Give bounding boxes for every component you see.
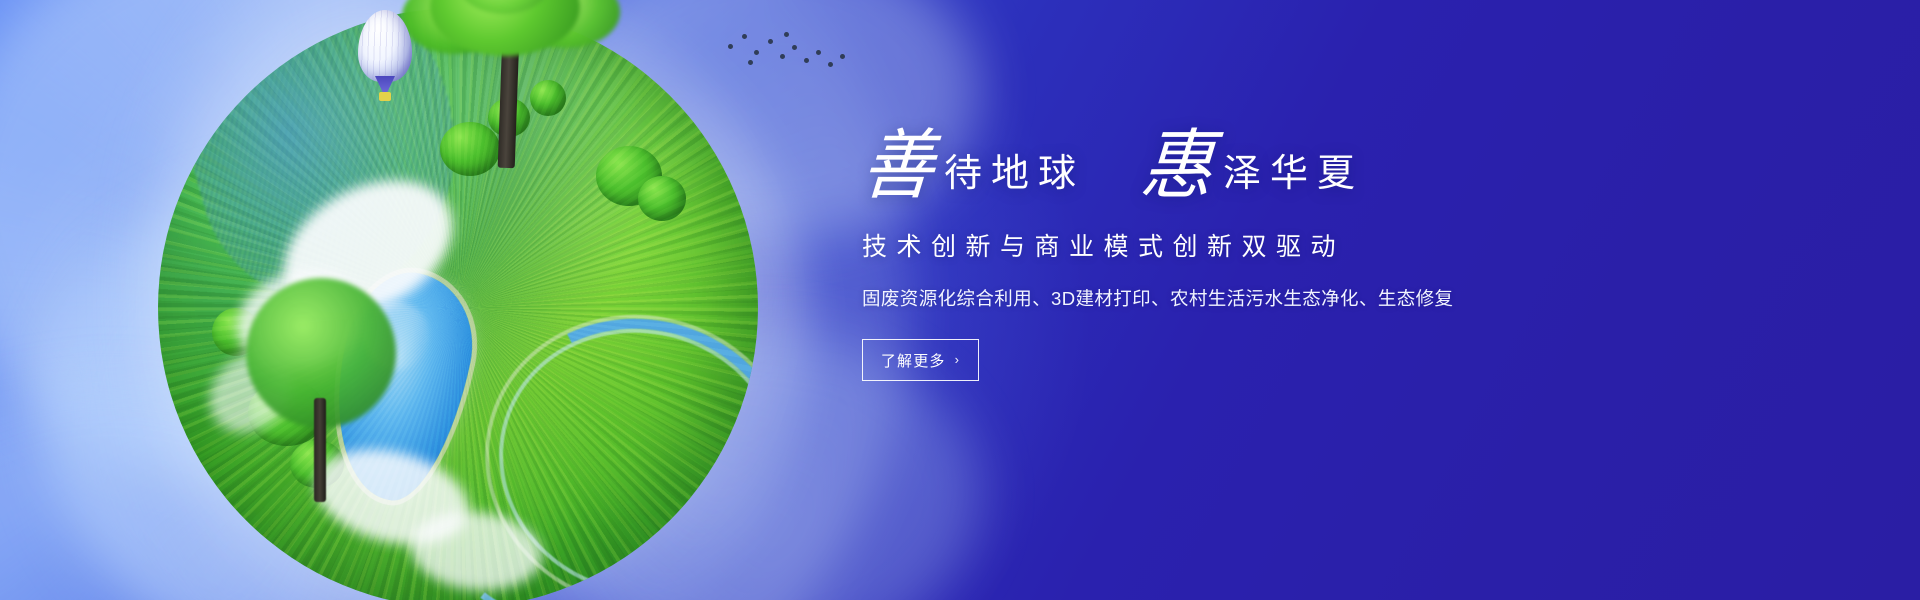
birds-flock [724,24,854,72]
headline-accent-char: 善 [859,130,936,203]
foreground-tree [246,278,396,508]
hero-copy: 善 待地球 惠 泽华夏 技术创新与商业模式创新双驱动 固废资源化综合利用、3D建… [862,132,1662,381]
subtitle: 技术创新与商业模式创新双驱动 [862,227,1662,263]
bird-icon [804,58,809,63]
bird-icon [742,34,747,39]
bird-icon [784,32,789,37]
bird-icon [792,45,797,50]
tiny-planet-artwork [128,0,788,600]
bird-icon [768,39,773,44]
headline-phrase-2: 惠 泽华夏 [1141,132,1364,201]
chevron-right-icon: › [955,352,961,367]
description: 固废资源化综合利用、3D建材打印、农村生活污水生态净化、生态修复 [862,285,1662,311]
hero-tree [396,0,626,167]
learn-more-label: 了解更多 [881,350,946,371]
hero-banner: 善 待地球 惠 泽华夏 技术创新与商业模式创新双驱动 固废资源化综合利用、3D建… [0,0,1920,600]
bird-icon [816,50,821,55]
learn-more-button[interactable]: 了解更多 › [862,339,979,381]
headline: 善 待地球 惠 泽华夏 [862,132,1662,201]
bird-icon [728,44,733,49]
headline-rest-chars: 泽华夏 [1223,155,1364,193]
balloon-skirt [375,76,395,92]
hot-air-balloon-icon [356,10,414,110]
balloon-envelope [358,10,412,82]
river [452,279,758,600]
headline-accent-char: 惠 [1138,130,1215,203]
headline-phrase-1: 善 待地球 [862,132,1085,201]
bird-icon [748,60,753,65]
river-secondary [429,393,669,600]
bird-icon [754,50,759,55]
surface-cloud [406,505,545,596]
headline-rest-chars: 待地球 [944,155,1085,193]
bird-icon [840,54,845,59]
balloon-basket [379,92,391,101]
tree-blob [638,176,686,221]
tree-trunk [314,398,326,502]
bird-icon [780,54,785,59]
bird-icon [828,62,833,67]
